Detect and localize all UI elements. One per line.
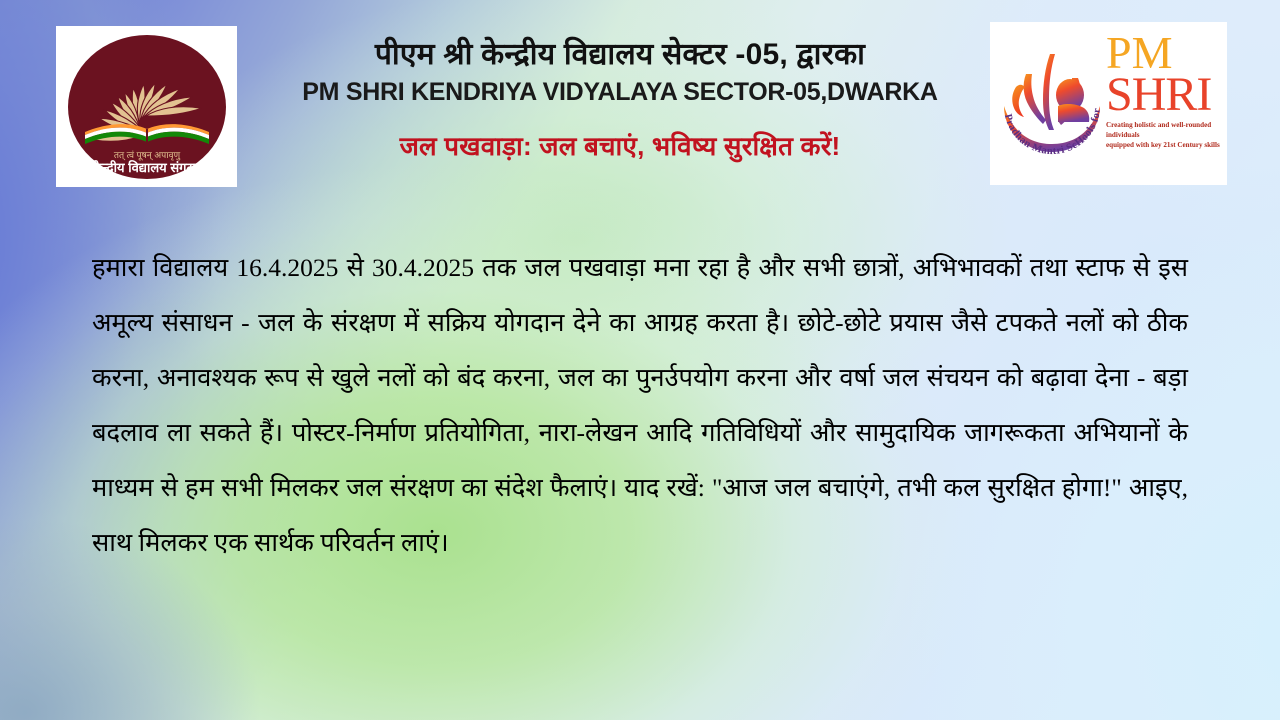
school-title-english: PM SHRI KENDRIYA VIDYALAYA SECTOR-05,DWA… xyxy=(250,76,990,109)
pm-shri-figure-icon: Pradhan Mantri ScHools for Rising India xyxy=(996,40,1108,162)
poster-canvas: तत् त्वं पूषन् अपावृणु केन्द्रीय विद्याल… xyxy=(0,0,1280,720)
pm-shri-logo-card: Pradhan Mantri ScHools for Rising India … xyxy=(990,22,1227,185)
school-title-hindi: पीएम श्री केन्द्रीय विद्यालय सेक्टर -05,… xyxy=(250,36,990,74)
pm-shri-lockup: Pradhan Mantri ScHools for Rising India … xyxy=(994,26,1223,181)
pm-shri-tagline-line1: Creating holistic and well-rounded indiv… xyxy=(1106,120,1224,141)
poster-header: तत् त्वं पूषन् अपावृणु केन्द्रीय विद्याल… xyxy=(0,0,1280,200)
kvs-logo-card: तत् त्वं पूषन् अपावृणु केन्द्रीय विद्याल… xyxy=(56,26,237,187)
pm-shri-word-shri: SHRI xyxy=(1106,73,1222,116)
kvs-emblem-icon: तत् त्वं पूषन् अपावृणु केन्द्रीय विद्याल… xyxy=(65,32,229,182)
kvs-organisation-text: केन्द्रीय विद्यालय संगठन xyxy=(91,160,201,175)
campaign-message-body: हमारा विद्यालय 16.4.2025 से 30.4.2025 तक… xyxy=(92,240,1188,570)
campaign-message-paragraph: हमारा विद्यालय 16.4.2025 से 30.4.2025 तक… xyxy=(92,240,1188,570)
title-block: पीएम श्री केन्द्रीय विद्यालय सेक्टर -05,… xyxy=(250,36,990,164)
pm-shri-tagline-line2: equipped with key 21st Century skills xyxy=(1106,140,1224,150)
pm-shri-tagline: Creating holistic and well-rounded indiv… xyxy=(1106,120,1224,151)
pm-shri-word-pm: PM xyxy=(1106,34,1222,73)
campaign-theme-line: जल पखवाड़ा: जल बचाएं, भविष्य सुरक्षित कर… xyxy=(250,130,990,164)
pm-shri-wordmark: PM SHRI Creating holistic and well-round… xyxy=(1106,34,1222,151)
